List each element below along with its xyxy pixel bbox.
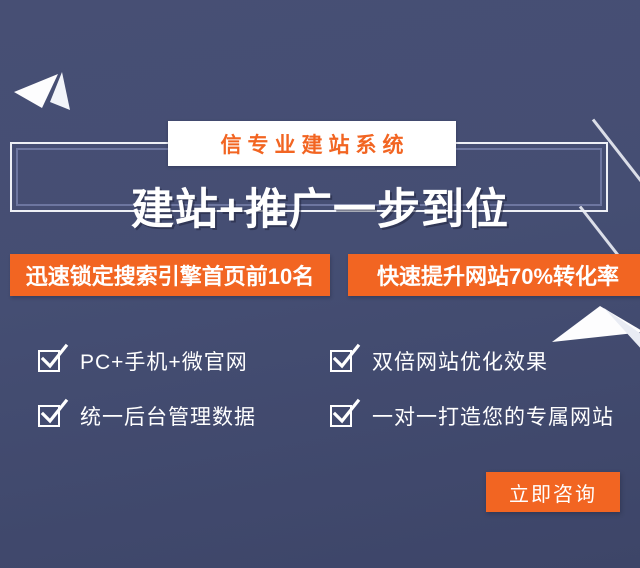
checkbox-checked-icon (38, 348, 64, 374)
feature-item: 双倍网站优化效果 (330, 333, 640, 388)
checkbox-checked-icon (330, 403, 356, 429)
feature-item-label: 双倍网站优化效果 (372, 346, 548, 376)
highlight-ribbon-right: 快速提升网站70%转化率 (348, 254, 640, 296)
paper-plane-icon (12, 58, 90, 116)
headline-label-box: 信专业建站系统 (168, 121, 456, 166)
feature-item-label: 统一后台管理数据 (80, 401, 256, 431)
feature-item: PC+手机+微官网 (38, 333, 330, 388)
feature-item-label: PC+手机+微官网 (80, 346, 248, 376)
feature-item-label: 一对一打造您的专属网站 (372, 401, 614, 431)
feature-item: 一对一打造您的专属网站 (330, 388, 640, 443)
checkbox-checked-icon (330, 348, 356, 374)
feature-list: PC+手机+微官网 双倍网站优化效果 统一后台管理数据 (38, 333, 640, 443)
highlight-ribbon-right-text: 快速提升网站70%转化率 (377, 259, 619, 291)
highlight-ribbon-left: 迅速锁定搜索引擎首页前10名 (10, 254, 330, 296)
headline-label-text: 信专业建站系统 (215, 129, 410, 159)
page-title: 建站+推广一步到位 (0, 180, 640, 240)
highlight-ribbon-left-text: 迅速锁定搜索引擎首页前10名 (26, 259, 314, 291)
consult-now-button[interactable]: 立即咨询 (486, 472, 620, 512)
checkbox-checked-icon (38, 403, 64, 429)
promo-banner: 信专业建站系统 建站+推广一步到位 迅速锁定搜索引擎首页前10名 快速提升网站7… (0, 0, 640, 568)
feature-item: 统一后台管理数据 (38, 388, 330, 443)
